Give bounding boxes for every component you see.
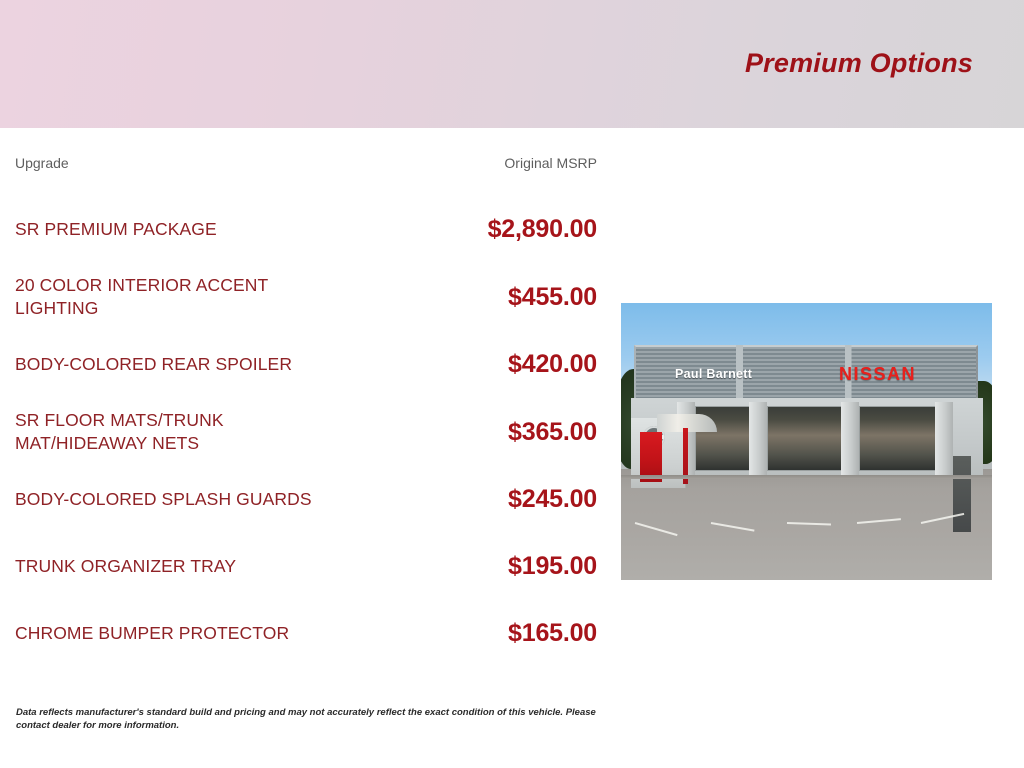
option-label: BODY-COLORED REAR SPOILER (15, 353, 292, 376)
building-column (841, 402, 859, 478)
premium-options-table: Upgrade Original MSRP SR PREMIUM PACKAGE… (15, 155, 597, 656)
table-row: SR PREMIUM PACKAGE $2,890.00 (15, 207, 597, 252)
building-column (749, 402, 767, 478)
nissan-brand-sign: NISSAN (839, 364, 916, 385)
disclaimer-text: Data reflects manufacturer's standard bu… (16, 706, 616, 733)
column-header-upgrade: Upgrade (15, 155, 69, 171)
option-price: $165.00 (508, 619, 597, 648)
table-header-row: Upgrade Original MSRP (15, 155, 597, 185)
option-price: $245.00 (508, 485, 597, 514)
building-column (935, 402, 953, 478)
option-label: TRUNK ORGANIZER TRAY (15, 555, 236, 578)
option-price: $420.00 (508, 350, 597, 379)
header-banner: Premium Options (0, 0, 1024, 128)
option-label: SR PREMIUM PACKAGE (15, 218, 217, 241)
dealer-name-sign: Paul Barnett (675, 367, 752, 381)
table-row: TRUNK ORGANIZER TRAY $195.00 (15, 544, 597, 589)
curb-line (621, 475, 992, 479)
dealership-photo: Paul Barnett NISSAN (621, 303, 992, 580)
column-header-msrp: Original MSRP (504, 155, 597, 171)
table-row: 20 COLOR INTERIOR ACCENT LIGHTING $455.0… (15, 274, 597, 320)
option-label: BODY-COLORED SPLASH GUARDS (15, 488, 312, 511)
option-price: $455.00 (508, 283, 597, 312)
building-lower-facade (631, 398, 983, 478)
dealership-building: Paul Barnett NISSAN (631, 345, 983, 477)
page-title: Premium Options (745, 50, 973, 77)
showroom-window (767, 406, 849, 471)
option-label: SR FLOOR MATS/TRUNK MAT/HIDEAWAY NETS (15, 409, 345, 455)
table-row: BODY-COLORED REAR SPOILER $420.00 (15, 342, 597, 387)
option-label: CHROME BUMPER PROTECTOR (15, 622, 289, 645)
showroom-window (859, 406, 939, 471)
dark-pier (953, 456, 971, 532)
option-price: $365.00 (508, 418, 597, 447)
option-price: $195.00 (508, 552, 597, 581)
table-row: SR FLOOR MATS/TRUNK MAT/HIDEAWAY NETS $3… (15, 409, 597, 455)
table-row: CHROME BUMPER PROTECTOR $165.00 (15, 611, 597, 656)
table-row: BODY-COLORED SPLASH GUARDS $245.00 (15, 477, 597, 522)
option-label: 20 COLOR INTERIOR ACCENT LIGHTING (15, 274, 345, 320)
option-price: $2,890.00 (488, 215, 597, 244)
